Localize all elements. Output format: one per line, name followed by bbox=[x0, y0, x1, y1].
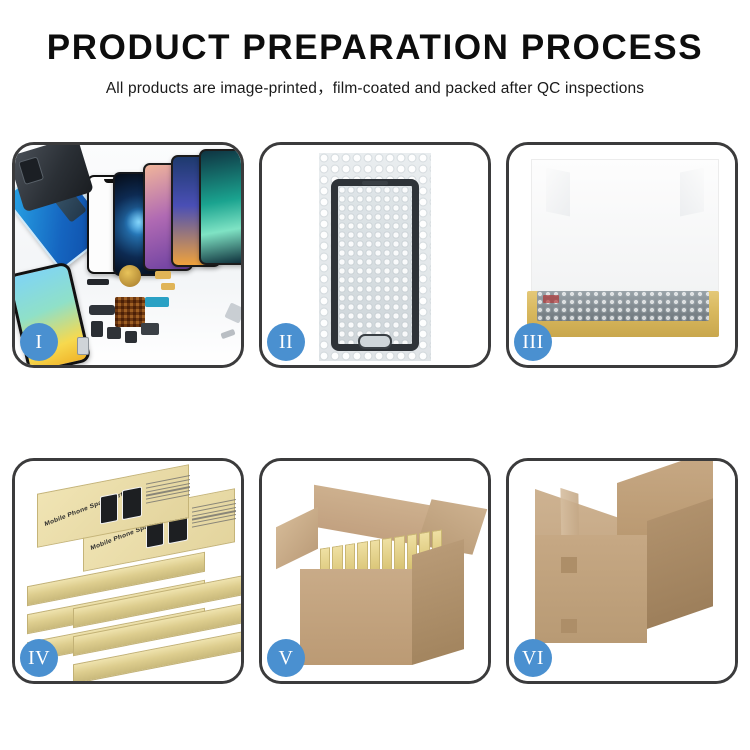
process-step-5: V bbox=[259, 458, 491, 684]
carton-tab-upper bbox=[561, 557, 577, 573]
process-step-4: Mobile Phone Spare Parts Mobile Phone Sp… bbox=[12, 458, 244, 684]
foam-flap-right bbox=[680, 167, 704, 216]
page-subtitle: All products are image-printed，film-coat… bbox=[0, 76, 750, 98]
part-speaker-coil bbox=[119, 265, 141, 287]
process-step-1: I bbox=[12, 142, 244, 368]
product-preparation-infographic: PRODUCT PREPARATION PROCESS All products… bbox=[0, 0, 750, 750]
box-spec-list-back bbox=[146, 475, 190, 506]
step-badge-5: V bbox=[267, 639, 305, 677]
bubble-wrap-sheet bbox=[319, 153, 431, 361]
step-badge-1: I bbox=[20, 323, 58, 361]
part-connector bbox=[87, 279, 109, 285]
header: PRODUCT PREPARATION PROCESS All products… bbox=[0, 0, 750, 98]
part-camera bbox=[91, 321, 103, 337]
box-phone-image-a bbox=[100, 493, 118, 524]
carton-front-face bbox=[300, 569, 412, 665]
wrapped-screen bbox=[331, 179, 419, 351]
part-flex-cable-b bbox=[161, 283, 175, 290]
process-step-2: II bbox=[259, 142, 491, 368]
foam-flap-left bbox=[546, 167, 570, 216]
sealed-carton-front bbox=[535, 535, 647, 643]
box-phone-image-b bbox=[122, 486, 142, 520]
phone-screen-teal bbox=[199, 149, 241, 265]
process-step-3: III bbox=[506, 142, 738, 368]
step-badge-2: II bbox=[267, 323, 305, 361]
part-sim-tray bbox=[77, 337, 89, 355]
part-motor bbox=[125, 331, 137, 343]
step-badge-6: VI bbox=[514, 639, 552, 677]
part-tool bbox=[224, 302, 241, 323]
carton-tab-lower bbox=[561, 619, 577, 633]
part-logic-board bbox=[115, 297, 145, 327]
process-step-grid: I II III bbox=[12, 142, 738, 687]
page-title: PRODUCT PREPARATION PROCESS bbox=[0, 30, 750, 67]
sealed-carton-side bbox=[647, 498, 713, 629]
step-badge-3: III bbox=[514, 323, 552, 361]
part-screws bbox=[220, 329, 235, 339]
box-spec-list-front bbox=[192, 499, 236, 530]
part-bracket bbox=[141, 323, 159, 335]
foam-liner bbox=[531, 159, 719, 295]
step-badge-4: IV bbox=[20, 639, 58, 677]
carton-flap-left bbox=[276, 507, 318, 569]
carton-right-side bbox=[412, 539, 464, 665]
part-ribbon bbox=[89, 305, 115, 315]
part-flex-cable-a bbox=[155, 271, 171, 279]
screen-in-box bbox=[537, 291, 709, 321]
process-step-6: VI bbox=[506, 458, 738, 684]
part-blue-flex bbox=[145, 297, 169, 307]
part-button bbox=[107, 327, 121, 339]
